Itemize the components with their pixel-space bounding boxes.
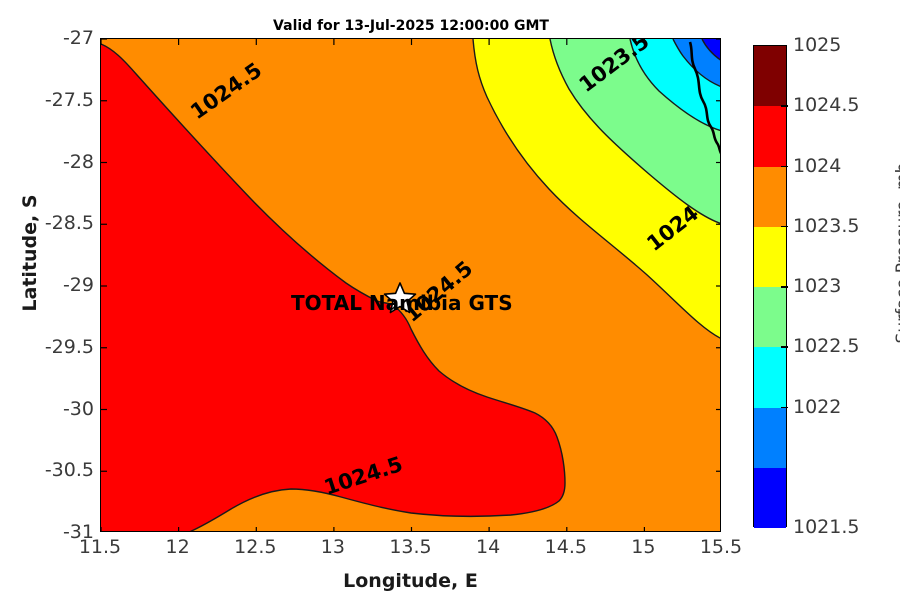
colorbar-tick: 1021.5 (793, 516, 859, 538)
y-tick: -27 (16, 27, 94, 49)
y-tick: -30.5 (16, 459, 94, 481)
y-tick: -27.5 (16, 89, 94, 111)
x-tick: 15 (631, 536, 655, 558)
chart-title: Valid for 13-Jul-2025 12:00:00 GMT (100, 18, 722, 34)
x-tick: 12.5 (234, 536, 276, 558)
colorbar-tickmark (781, 407, 788, 409)
x-tick: 13.5 (389, 536, 431, 558)
y-axis-label: Latitude, S (19, 133, 41, 373)
colorbar-label-wrap: Surface Pressure, mb (783, 135, 900, 375)
x-tick: 11.5 (79, 536, 121, 558)
x-axis-label: Longitude, E (100, 570, 721, 592)
contour-svg: 1024.5 1023.5 1024 1024.5 1024.5 TOTAL N… (101, 39, 721, 532)
station-label: TOTAL Namibia GTS (291, 291, 513, 315)
x-axis-ticks: 11.5 12 12.5 13 13.5 14 14.5 15 15.5 (100, 536, 721, 570)
y-tick: -30 (16, 398, 94, 420)
x-tick: 15.5 (700, 536, 742, 558)
x-tick: 13 (321, 536, 345, 558)
colorbar-label: Surface Pressure, mb (893, 93, 900, 413)
x-tick: 14 (476, 536, 500, 558)
colorbar-tick: 1022 (793, 396, 841, 418)
x-tick: 14.5 (545, 536, 587, 558)
chart-canvas: Valid for 13-Jul-2025 12:00:00 GMT (0, 0, 900, 600)
colorbar-tickmark (781, 105, 788, 107)
contour-plot-area[interactable]: 1024.5 1023.5 1024 1024.5 1024.5 TOTAL N… (100, 38, 721, 532)
x-tick: 12 (166, 536, 190, 558)
colorbar-tick: 1025 (793, 34, 841, 56)
colorbar-tick: 1024.5 (793, 94, 859, 116)
